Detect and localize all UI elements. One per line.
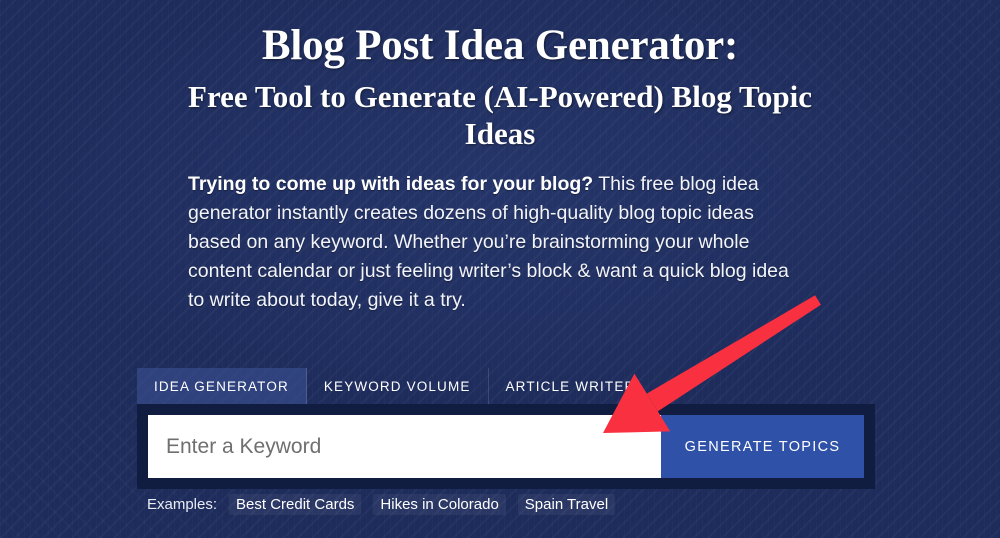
page-subtitle: Free Tool to Generate (AI-Powered) Blog … <box>150 78 850 152</box>
keyword-input[interactable] <box>148 415 661 478</box>
tab-keyword-volume[interactable]: KEYWORD VOLUME <box>307 368 489 404</box>
generate-topics-button[interactable]: GENERATE TOPICS <box>661 415 864 478</box>
keyword-search-form: GENERATE TOPICS <box>137 404 875 489</box>
page-content: Blog Post Idea Generator: Free Tool to G… <box>0 0 1000 538</box>
examples-label: Examples: <box>147 496 217 513</box>
example-link-hikes-in-colorado[interactable]: Hikes in Colorado <box>373 494 505 515</box>
hero-description-lead: Trying to come up with ideas for your bl… <box>188 173 593 195</box>
example-link-best-credit-cards[interactable]: Best Credit Cards <box>229 494 361 515</box>
tool-tabs: IDEA GENERATOR KEYWORD VOLUME ARTICLE WR… <box>137 368 652 404</box>
hero-description: Trying to come up with ideas for your bl… <box>188 170 806 315</box>
tab-idea-generator[interactable]: IDEA GENERATOR <box>137 368 307 404</box>
page-title: Blog Post Idea Generator: <box>0 20 1000 72</box>
tab-article-writer[interactable]: ARTICLE WRITER <box>489 368 653 404</box>
examples-row: Examples: Best Credit Cards Hikes in Col… <box>147 494 615 515</box>
example-link-spain-travel[interactable]: Spain Travel <box>518 494 615 515</box>
